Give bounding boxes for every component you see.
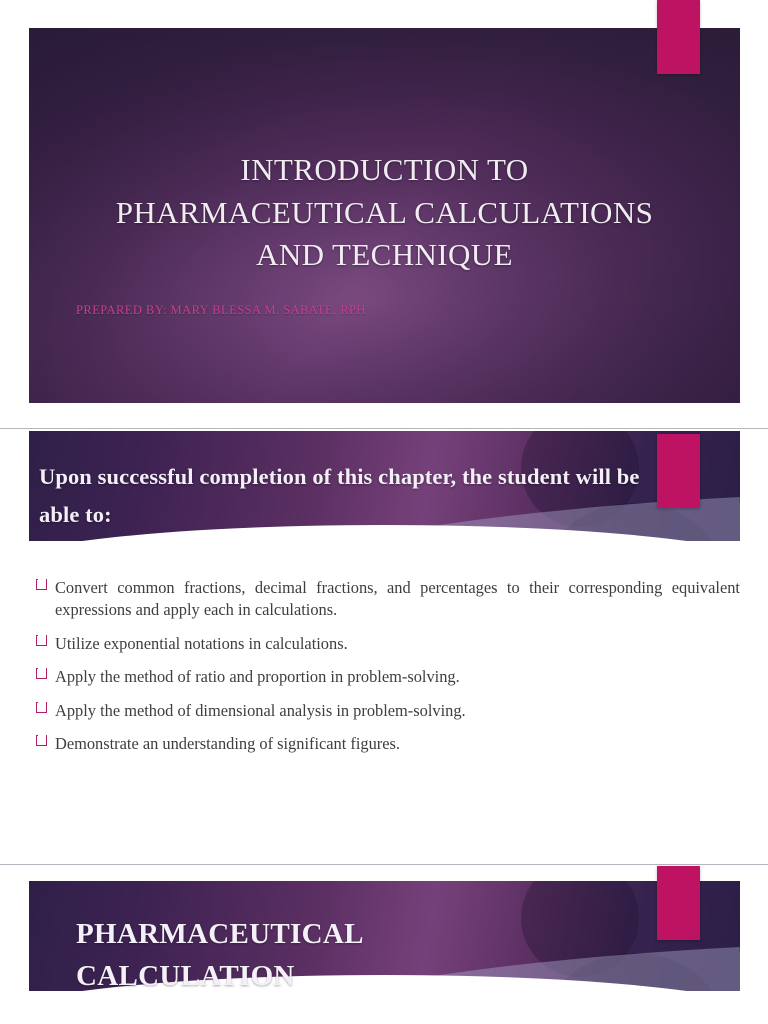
list-item: Utilize exponential notations in calcula… — [29, 633, 740, 655]
slide-1-title: INTRODUCTION TOPHARMACEUTICAL CALCULATIO… — [0, 0, 768, 428]
checkbox-bullet-icon — [36, 635, 47, 646]
list-item: Apply the method of dimensional analysis… — [29, 700, 740, 722]
slides-document: INTRODUCTION TOPHARMACEUTICAL CALCULATIO… — [0, 0, 768, 1024]
slide-1-title-text: INTRODUCTION TOPHARMACEUTICAL CALCULATIO… — [79, 149, 690, 277]
list-item: Apply the method of ratio and proportion… — [29, 666, 740, 688]
slide-2-heading-text: Upon successful completion of this chapt… — [39, 458, 654, 535]
magenta-accent-tab-icon — [657, 0, 700, 74]
magenta-accent-tab-icon — [657, 866, 700, 940]
list-item: Convert common fractions, decimal fracti… — [29, 577, 740, 622]
magenta-accent-tab-icon — [657, 434, 700, 508]
objectives-list: Convert common fractions, decimal fracti… — [29, 577, 740, 756]
checkbox-bullet-icon — [36, 702, 47, 713]
slide-2-objectives: Upon successful completion of this chapt… — [0, 429, 768, 864]
checkbox-bullet-icon — [36, 735, 47, 746]
slide-1-subtitle-text: PREPARED BY: MARY BLESSA M. SABATE, RPH — [76, 303, 687, 318]
slide-2-header-banner: Upon successful completion of this chapt… — [29, 431, 740, 541]
checkbox-bullet-icon — [36, 668, 47, 679]
list-item-label: Demonstrate an understanding of signific… — [55, 734, 400, 753]
list-item: Demonstrate an understanding of signific… — [29, 733, 740, 755]
list-item-label: Convert common fractions, decimal fracti… — [55, 578, 740, 619]
slide-3-section-header: PHARMACEUTICALCALCULATION — [0, 865, 768, 1024]
slide-3-header-banner: PHARMACEUTICALCALCULATION — [29, 881, 740, 991]
list-item-label: Utilize exponential notations in calcula… — [55, 634, 348, 653]
slide-1-canvas: INTRODUCTION TOPHARMACEUTICAL CALCULATIO… — [29, 28, 740, 403]
list-item-label: Apply the method of dimensional analysis… — [55, 701, 466, 720]
list-item-label: Apply the method of ratio and proportion… — [55, 667, 460, 686]
slide-3-title-text: PHARMACEUTICALCALCULATION — [76, 913, 650, 991]
checkbox-bullet-icon — [36, 579, 47, 590]
